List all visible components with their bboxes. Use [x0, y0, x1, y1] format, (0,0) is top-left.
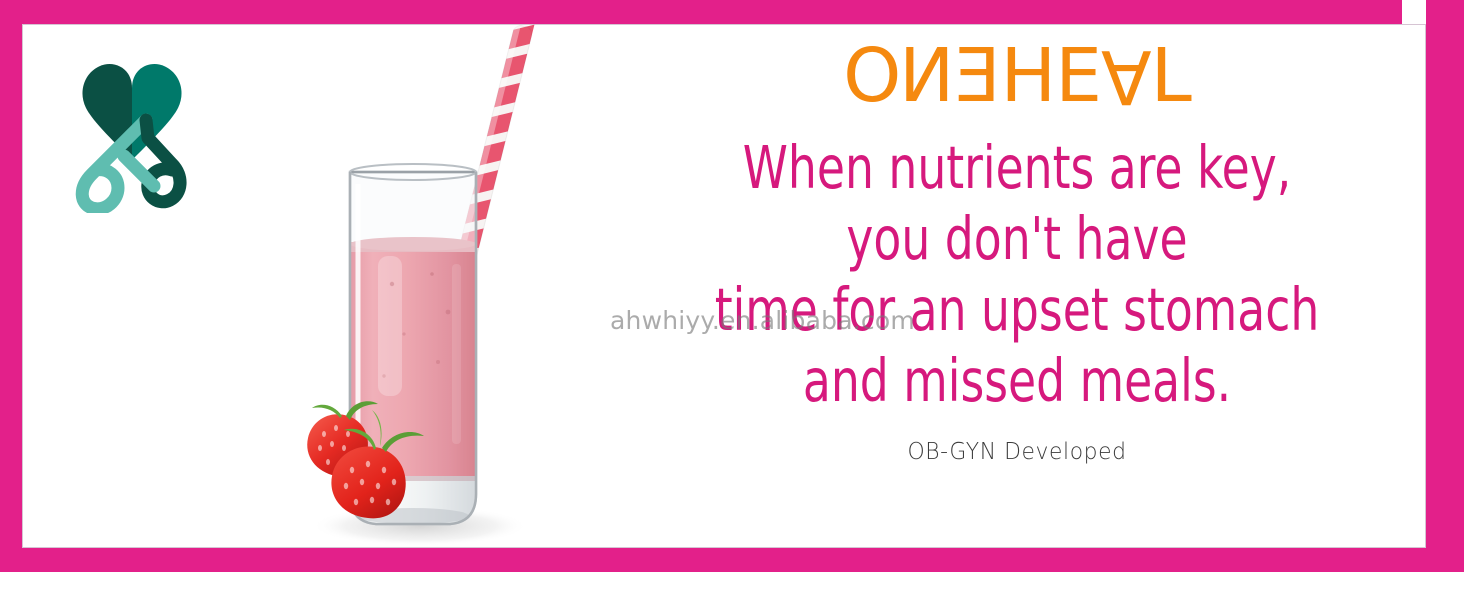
frame-border-left: [0, 0, 22, 572]
wordmark-letter-o: O: [843, 33, 900, 119]
wordmark-letter-h: H: [1001, 33, 1056, 119]
frame-border-bottom: [0, 548, 1464, 572]
heart-infinity-icon: [62, 48, 202, 213]
frame-border-right: [1426, 0, 1464, 572]
wordmark-letter-e1: E: [955, 34, 1001, 118]
frame-border-top: [0, 0, 1402, 24]
wordmark-letter-n: N: [900, 34, 954, 118]
headline-line-1: When nutrients are key,: [677, 132, 1356, 203]
wordmark-letter-a: A: [1101, 34, 1151, 118]
message-column: ONEHEAL When nutrients are key, you don'…: [622, 30, 1412, 530]
promotional-banner: ONEHEAL When nutrients are key, you don'…: [0, 0, 1464, 600]
headline-line-3: time for an upset stomach: [677, 274, 1356, 345]
brand-wordmark: ONEHEAL: [622, 30, 1412, 118]
headline-line-4: and missed meals.: [677, 345, 1356, 416]
headline: When nutrients are key, you don't have t…: [677, 118, 1356, 416]
product-photo-smoothie: [272, 24, 572, 548]
smoothie-glass-illustration: [272, 24, 572, 548]
brand-logo-mark: [62, 48, 202, 213]
headline-line-2: you don't have: [677, 203, 1356, 274]
wordmark-letter-e2: E: [1055, 33, 1101, 119]
banner-canvas: ONEHEAL When nutrients are key, you don'…: [22, 24, 1426, 548]
tagline: OB-GYN Developed: [642, 416, 1393, 466]
wordmark-letter-l: L: [1151, 33, 1191, 119]
